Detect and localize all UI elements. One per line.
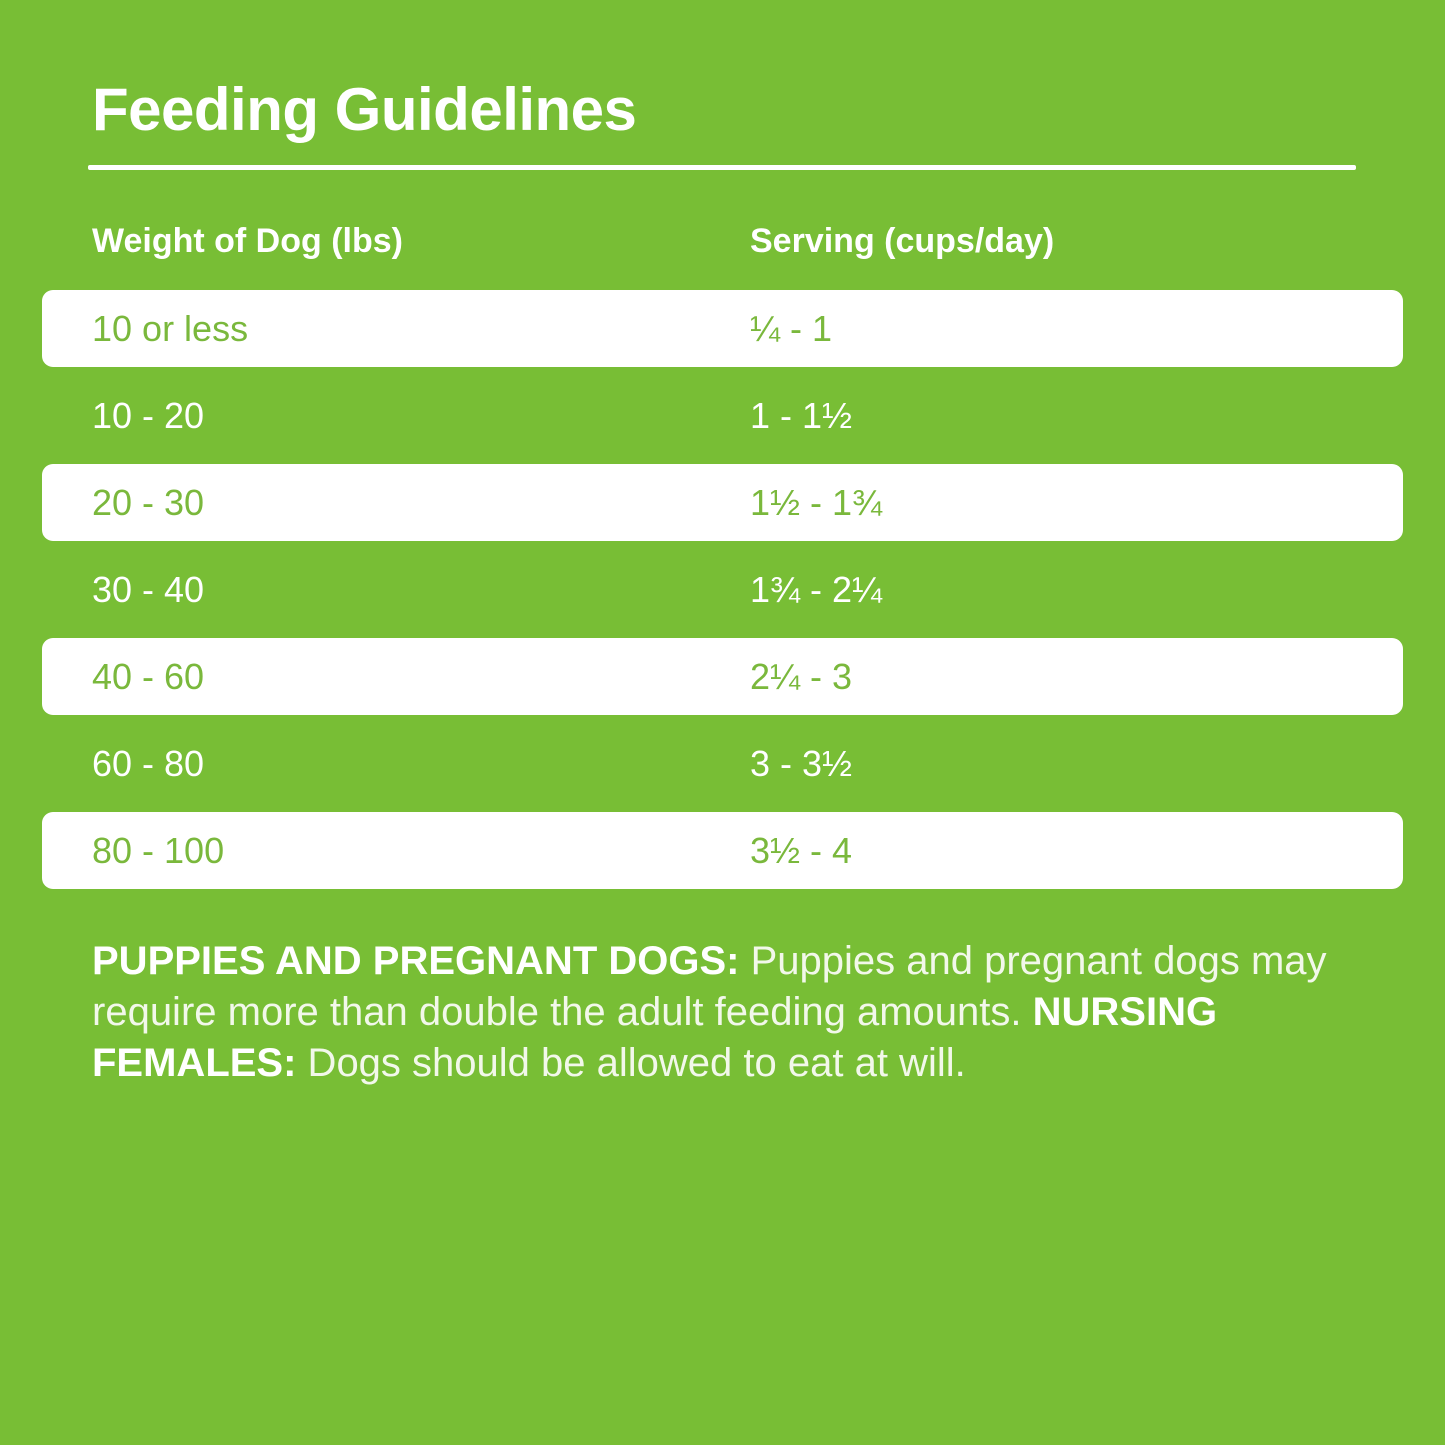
table-row: 80 - 100 3½ - 4 [0, 812, 1445, 899]
row-background [42, 638, 1403, 715]
cell-weight: 10 or less [92, 306, 248, 352]
table-row: 40 - 60 2¼ - 3 [0, 638, 1445, 725]
cell-weight: 80 - 100 [92, 828, 224, 874]
feeding-table: Weight of Dog (lbs) Serving (cups/day) 1… [0, 210, 1445, 899]
row-background [42, 464, 1403, 541]
cell-serving: 1¾ - 2¼ [750, 567, 882, 613]
column-header-serving: Serving (cups/day) [750, 222, 1054, 261]
cell-serving: 2¼ - 3 [750, 654, 852, 700]
table-row: 10 or less ¼ - 1 [0, 290, 1445, 377]
table-body: 10 or less ¼ - 1 10 - 20 1 - 1½ 20 - 30 … [0, 290, 1445, 899]
column-header-weight: Weight of Dog (lbs) [92, 222, 403, 261]
table-row: 30 - 40 1¾ - 2¼ [0, 551, 1445, 638]
cell-serving: 1½ - 1¾ [750, 480, 882, 526]
page-title: Feeding Guidelines [92, 76, 636, 144]
table-row: 10 - 20 1 - 1½ [0, 377, 1445, 464]
row-background [42, 812, 1403, 889]
table-row: 20 - 30 1½ - 1¾ [0, 464, 1445, 551]
footnote-text-nursing: Dogs should be allowed to eat at will. [296, 1041, 965, 1085]
feeding-footnote: PUPPIES AND PREGNANT DOGS: Puppies and p… [92, 936, 1382, 1089]
cell-weight: 20 - 30 [92, 480, 204, 526]
row-background [42, 377, 1403, 454]
cell-serving: 3 - 3½ [750, 741, 852, 787]
feeding-guidelines-panel: Feeding Guidelines Weight of Dog (lbs) S… [0, 0, 1445, 1445]
cell-weight: 30 - 40 [92, 567, 204, 613]
row-background [42, 551, 1403, 628]
title-divider [88, 165, 1356, 170]
footnote-label-puppies: PUPPIES AND PREGNANT DOGS: [92, 939, 739, 983]
table-row: 60 - 80 3 - 3½ [0, 725, 1445, 812]
cell-weight: 10 - 20 [92, 393, 204, 439]
row-background [42, 725, 1403, 802]
cell-weight: 60 - 80 [92, 741, 204, 787]
table-header-row: Weight of Dog (lbs) Serving (cups/day) [0, 210, 1445, 290]
cell-serving: 1 - 1½ [750, 393, 852, 439]
cell-weight: 40 - 60 [92, 654, 204, 700]
cell-serving: 3½ - 4 [750, 828, 852, 874]
cell-serving: ¼ - 1 [750, 306, 832, 352]
